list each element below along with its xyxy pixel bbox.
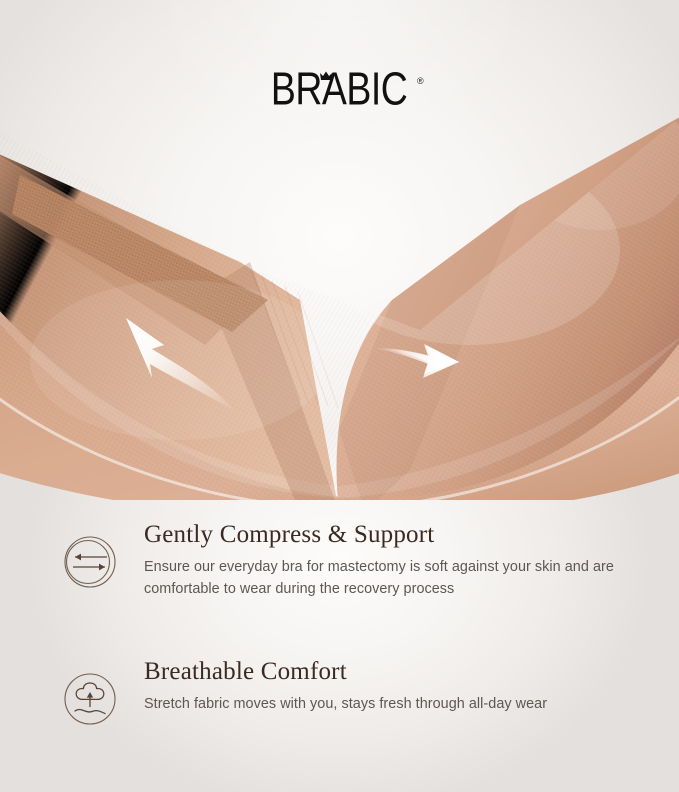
feature-item-breathable: Breathable Comfort Stretch fabric moves … <box>0 657 679 727</box>
feature-list: Gently Compress & Support Ensure our eve… <box>0 520 679 735</box>
feature-title: Gently Compress & Support <box>144 520 639 551</box>
feature-description: Ensure our everyday bra for mastectomy i… <box>144 556 614 601</box>
hero-fabric-image <box>0 0 679 500</box>
compress-arrows-icon <box>62 534 118 590</box>
feature-text-block: Gently Compress & Support Ensure our eve… <box>118 520 639 600</box>
top-center-glow <box>170 0 510 240</box>
feature-title: Breathable Comfort <box>144 657 639 688</box>
feature-text-block: Breathable Comfort Stretch fabric moves … <box>118 657 639 715</box>
feature-description: Stretch fabric moves with you, stays fre… <box>144 693 614 715</box>
product-feature-page: BRABIC ® <box>0 0 679 792</box>
breathable-cotton-icon <box>62 671 118 727</box>
feature-item-compress: Gently Compress & Support Ensure our eve… <box>0 520 679 600</box>
